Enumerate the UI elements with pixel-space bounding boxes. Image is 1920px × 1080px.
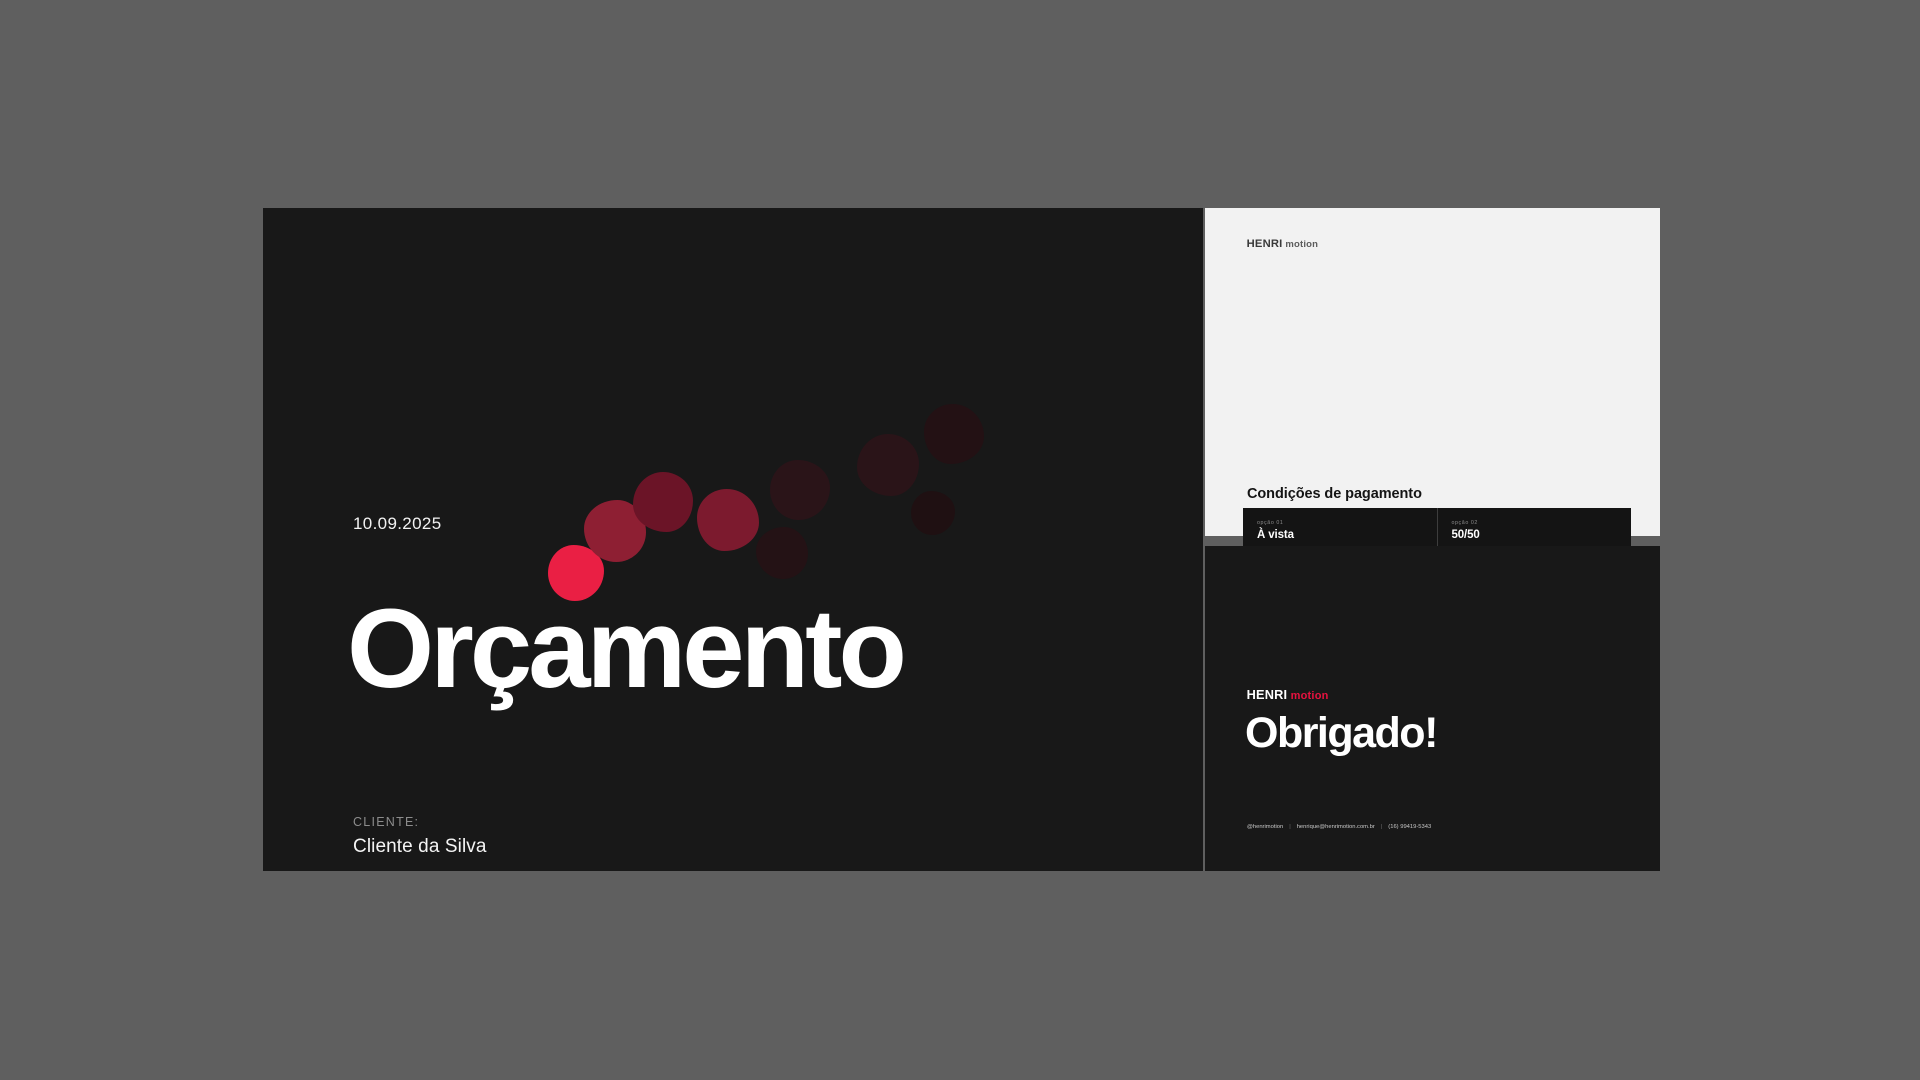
brand-logo-motion: motion [1285,240,1318,250]
thanks-title: Obrigado! [1245,709,1437,758]
payment-heading: Condições de pagamento [1247,486,1422,502]
client-field: CLIENTE: Cliente da Silva [353,815,487,858]
payment-option-2-kicker: opção 02 [1452,520,1618,526]
brand-logo-thanks: HENRI motion [1247,689,1329,702]
email-address[interactable]: henrique@henrimotion.com.br [1297,824,1375,830]
brand-logo-light: HENRI motion [1247,239,1318,250]
client-value: Cliente da Silva [353,836,487,858]
thank-you-slide: HENRI motion Obrigado! @henrimotion | he… [1205,546,1660,871]
decorative-blob-cluster [263,208,1203,871]
instagram-handle[interactable]: @henrimotion [1247,824,1283,830]
cover-slide: 10.09.2025 Orçamento CLIENTE: Cliente da… [263,208,1203,871]
decorative-blob [584,500,646,562]
payment-conditions-slide: HENRI motion Condições de pagamento opçã… [1205,208,1660,536]
separator-icon: | [1381,824,1383,830]
slide-canvas: 10.09.2025 Orçamento CLIENTE: Cliente da… [0,0,1920,1080]
phone-number[interactable]: (16) 99419-5343 [1388,824,1431,830]
payment-option-1-kicker: opção 01 [1257,520,1423,526]
decorative-blob [633,472,693,532]
client-label: CLIENTE: [353,815,487,829]
payment-option-1-title: À vista [1257,529,1423,541]
decorative-blob [770,460,830,520]
separator-icon: | [1289,824,1291,830]
decorative-blob [857,434,919,496]
decorative-blob [697,489,759,551]
decorative-blob [924,404,984,464]
decorative-blob [911,491,955,535]
thanks-contact-bar: @henrimotion | henrique@henrimotion.com.… [1247,824,1431,830]
brand-logo-henri: HENRI [1247,689,1288,702]
page-title: Orçamento [347,593,903,705]
cover-date: 10.09.2025 [353,514,441,534]
brand-logo-henri: HENRI [1247,239,1283,250]
payment-option-2-title: 50/50 [1452,529,1618,541]
brand-logo-motion: motion [1291,691,1329,702]
decorative-blob [756,527,808,579]
